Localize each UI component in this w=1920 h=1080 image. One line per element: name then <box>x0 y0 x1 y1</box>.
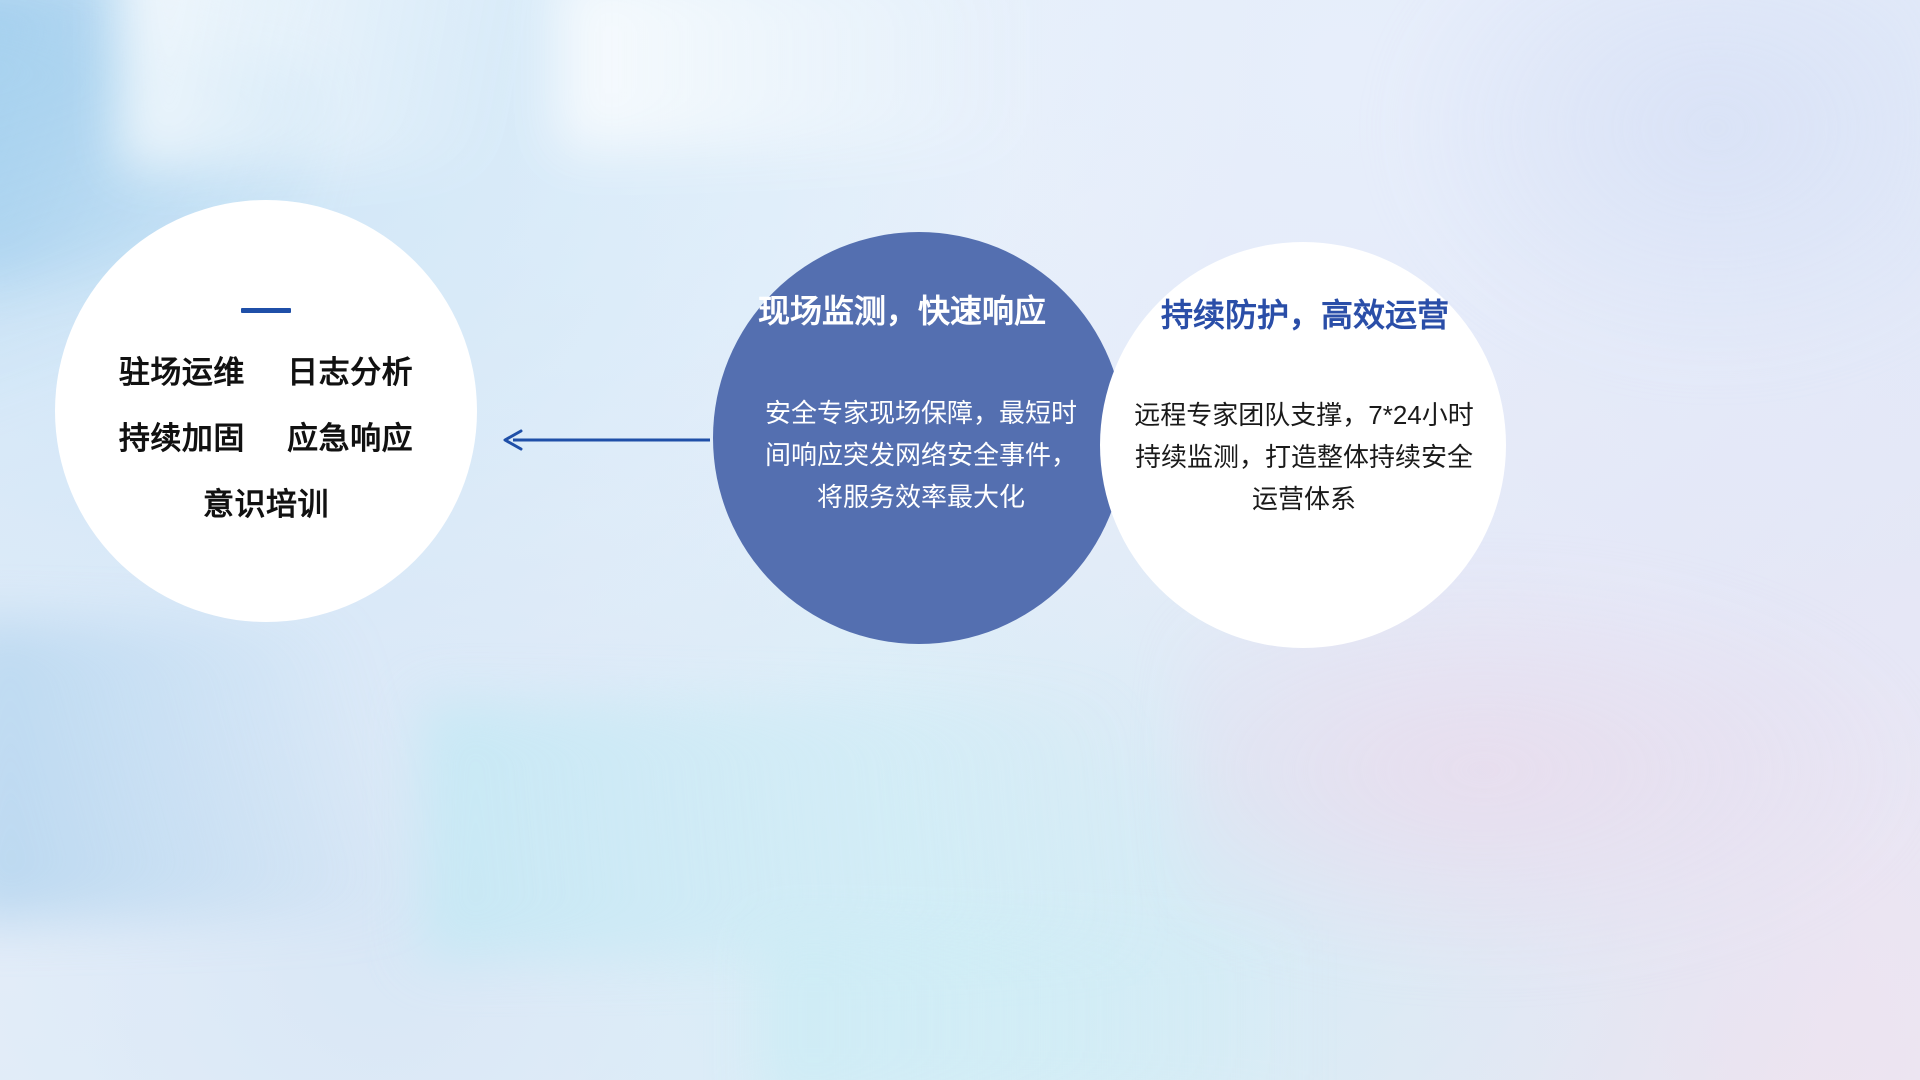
blue-circle-body: 安全专家现场保障，最短时间响应突发网络安全事件，将服务效率最大化 <box>765 392 1077 518</box>
slide-canvas: 驻场运维 日志分析 持续加固 应急响应 意识培训 现场监测，快速响应 安全专家现… <box>0 0 1920 1080</box>
left-circle-content: 驻场运维 日志分析 持续加固 应急响应 意识培训 <box>55 200 477 622</box>
background-streak <box>560 0 1120 150</box>
left-circle-line-1: 驻场运维 日志分析 <box>119 357 413 388</box>
arrow-left-icon <box>495 424 710 456</box>
keyword-chixu-jiagu: 持续加固 <box>119 421 245 456</box>
left-circle-line-3: 意识培训 <box>203 489 329 520</box>
keyword-zhuchang-yunwei: 驻场运维 <box>119 355 245 390</box>
left-circle-divider <box>241 308 291 313</box>
keyword-yingji-xiangying: 应急响应 <box>287 421 413 456</box>
right-circle-title: 持续防护，高效运营 <box>1140 298 1470 333</box>
keyword-yishi-peixun: 意识培训 <box>203 487 329 522</box>
left-circle-line-2: 持续加固 应急响应 <box>119 423 413 454</box>
right-circle-content: 持续防护，高效运营 远程专家团队支撑，7*24小时持续监测，打造整体持续安全运营… <box>1100 242 1506 648</box>
blue-circle-content: 现场监测，快速响应 安全专家现场保障，最短时间响应突发网络安全事件，将服务效率最… <box>713 232 1125 644</box>
flow-arrow <box>495 424 710 456</box>
background-streak <box>760 930 1460 1080</box>
keyword-rizhi-fenxi: 日志分析 <box>287 355 413 390</box>
right-circle-body: 远程专家团队支撑，7*24小时持续监测，打造整体持续安全运营体系 <box>1124 394 1484 520</box>
